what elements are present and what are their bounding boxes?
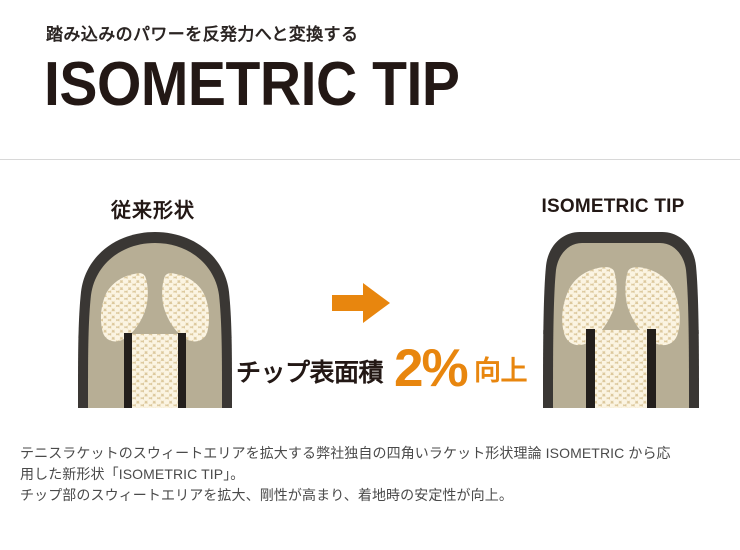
isometric-shoe-diagram [528,226,714,417]
arrow-right-icon [330,280,392,331]
page-title: ISOMETRIC TIP [44,52,460,118]
conventional-shoe-diagram [62,226,248,417]
callout-label: チップ表面積 [236,353,383,389]
conventional-shape-label: 従来形状 [88,194,218,223]
callout-value: 2% [394,342,467,395]
body-line-2: 用した新形状「ISOMETRIC TIP」。 [20,464,726,485]
header-block: 踏み込みのパワーを反発力へと変換する ISOMETRIC TIP [0,0,740,160]
body-line-1: テニスラケットのスウィートエリアを拡大する弊社独自の四角いラケット形状理論 IS… [20,443,726,464]
body-line-3: チップ部のスウィートエリアを拡大、剛性が高まり、着地時の安定性が向上。 [20,485,726,506]
callout-text: チップ表面積 2% 向上 [236,333,506,393]
callout-suffix: 向上 [474,349,527,388]
header-subtitle: 踏み込みのパワーを反発力へと変換する [46,20,358,45]
body-copy: テニスラケットのスウィートエリアを拡大する弊社独自の四角いラケット形状理論 IS… [20,443,726,506]
isometric-tip-label: ISOMETRIC TIP [518,196,708,218]
